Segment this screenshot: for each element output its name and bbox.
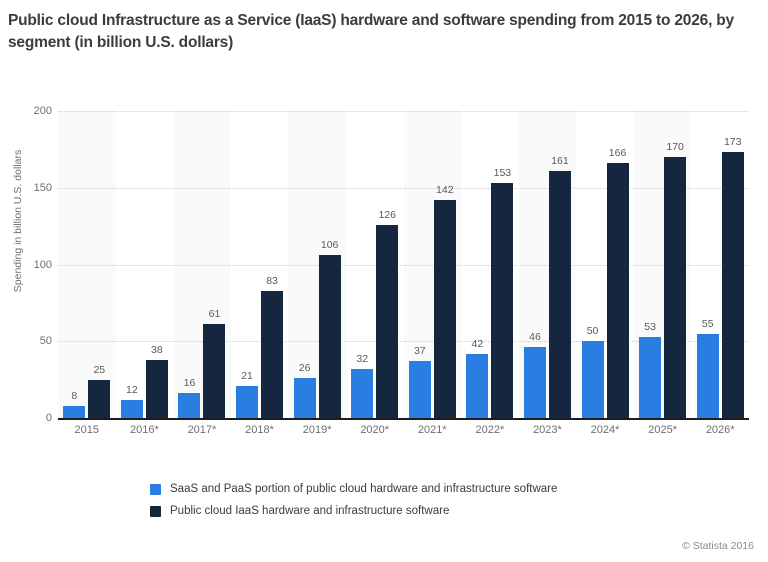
x-axis-line xyxy=(58,418,749,420)
plot-area: 8251238166121832610632126371424215346161… xyxy=(58,111,749,418)
statista-credit: © Statista 2016 xyxy=(682,540,754,552)
bar-saas-paas[interactable] xyxy=(409,361,431,418)
bar-group: 42153 xyxy=(466,111,513,418)
bar-iaas[interactable] xyxy=(261,291,283,418)
bar-saas-paas[interactable] xyxy=(697,334,719,418)
bar-group: 50166 xyxy=(582,111,629,418)
bar-saas-paas[interactable] xyxy=(178,393,200,418)
bar-iaas[interactable] xyxy=(203,324,225,418)
legend-item[interactable]: Public cloud IaaS hardware and infrastru… xyxy=(150,500,557,522)
bar-value-label: 83 xyxy=(252,275,292,287)
bar-iaas[interactable] xyxy=(319,255,341,418)
chart-canvas: Spending in billion U.S. dollars 0501001… xyxy=(0,0,768,470)
y-axis-tick-label: 150 xyxy=(8,182,52,194)
bar-iaas[interactable] xyxy=(376,225,398,418)
bar-saas-paas[interactable] xyxy=(639,337,661,418)
bar-group: 32126 xyxy=(351,111,398,418)
bar-group: 55173 xyxy=(697,111,744,418)
bar-group: 825 xyxy=(63,111,110,418)
bar-iaas[interactable] xyxy=(434,200,456,418)
legend-item-label: SaaS and PaaS portion of public cloud ha… xyxy=(170,483,557,495)
bar-value-label: 161 xyxy=(540,155,580,167)
bar-value-label: 126 xyxy=(367,209,407,221)
statista-chart-page: Public cloud Infrastructure as a Service… xyxy=(0,0,768,562)
bar-value-label: 166 xyxy=(598,147,638,159)
bar-value-label: 142 xyxy=(425,184,465,196)
bar-value-label: 106 xyxy=(310,239,350,251)
bar-group: 37142 xyxy=(409,111,456,418)
bar-group: 2183 xyxy=(236,111,283,418)
bar-value-label: 25 xyxy=(79,364,119,376)
legend-item-label: Public cloud IaaS hardware and infrastru… xyxy=(170,505,449,517)
bar-iaas[interactable] xyxy=(88,380,110,418)
legend-item[interactable]: SaaS and PaaS portion of public cloud ha… xyxy=(150,478,557,500)
chart-legend: SaaS and PaaS portion of public cloud ha… xyxy=(150,478,557,522)
bar-value-label: 153 xyxy=(482,167,522,179)
bar-saas-paas[interactable] xyxy=(294,378,316,418)
bar-iaas[interactable] xyxy=(607,163,629,418)
bar-iaas[interactable] xyxy=(722,152,744,418)
bar-value-label: 173 xyxy=(713,136,753,148)
x-axis-tick-label: 2026* xyxy=(685,424,755,436)
bar-iaas[interactable] xyxy=(491,183,513,418)
bar-group: 53170 xyxy=(639,111,686,418)
y-axis-tick-label: 100 xyxy=(8,259,52,271)
bar-iaas[interactable] xyxy=(664,157,686,418)
bar-iaas[interactable] xyxy=(146,360,168,418)
legend-swatch-iaas xyxy=(150,506,161,517)
y-axis-tick-label: 200 xyxy=(8,105,52,117)
bar-iaas[interactable] xyxy=(549,171,571,418)
bar-saas-paas[interactable] xyxy=(582,341,604,418)
bar-group: 1661 xyxy=(178,111,225,418)
y-axis-tick-label: 50 xyxy=(8,335,52,347)
bar-saas-paas[interactable] xyxy=(466,354,488,418)
bar-saas-paas[interactable] xyxy=(121,400,143,418)
bar-value-label: 38 xyxy=(137,344,177,356)
bar-saas-paas[interactable] xyxy=(351,369,373,418)
bar-group: 1238 xyxy=(121,111,168,418)
bar-value-label: 170 xyxy=(655,141,695,153)
y-axis-tick-labels: 050100150200 xyxy=(0,0,52,470)
legend-swatch-saas-paas xyxy=(150,484,161,495)
bar-value-label: 61 xyxy=(194,308,234,320)
bar-saas-paas[interactable] xyxy=(63,406,85,418)
bar-group: 26106 xyxy=(294,111,341,418)
bar-saas-paas[interactable] xyxy=(236,386,258,418)
y-axis-tick-label: 0 xyxy=(8,412,52,424)
bar-group: 46161 xyxy=(524,111,571,418)
bar-saas-paas[interactable] xyxy=(524,347,546,418)
